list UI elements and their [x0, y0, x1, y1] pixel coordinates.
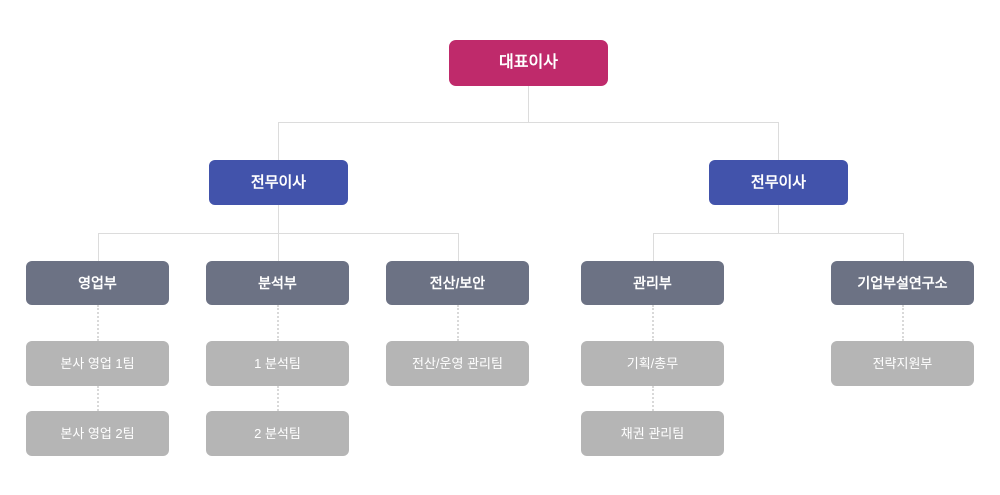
connector-management-to-planning	[652, 305, 654, 341]
connector-exec-right-to-management	[653, 233, 654, 261]
node-department-it-security[interactable]: 전산/보안	[386, 261, 529, 305]
connector-it-to-team	[457, 305, 459, 341]
node-executive-left[interactable]: 전무이사	[209, 160, 348, 205]
connector-ceo-to-exec-right	[778, 122, 779, 160]
connector-sales-to-team1	[97, 305, 99, 341]
connector-analysis-to-team1	[277, 305, 279, 341]
node-ceo[interactable]: 대표이사	[449, 40, 608, 86]
node-team-strategy-support[interactable]: 전략지원부	[831, 341, 974, 386]
node-team-analysis-1[interactable]: 1 분석팀	[206, 341, 349, 386]
node-executive-right[interactable]: 전무이사	[709, 160, 848, 205]
node-department-research[interactable]: 기업부설연구소	[831, 261, 974, 305]
connector-research-to-strategy	[902, 305, 904, 341]
node-department-analysis[interactable]: 분석부	[206, 261, 349, 305]
connector-exec-left-to-it	[458, 233, 459, 261]
node-team-analysis-2[interactable]: 2 분석팀	[206, 411, 349, 456]
node-team-sales-1[interactable]: 본사 영업 1팀	[26, 341, 169, 386]
connector-exec-right-bar	[653, 233, 903, 234]
connector-exec-left-stem	[278, 205, 279, 234]
connector-ceo-stem	[528, 86, 529, 123]
node-team-bond-management[interactable]: 채권 관리팀	[581, 411, 724, 456]
connector-ceo-to-exec-left	[278, 122, 279, 160]
connector-exec-right-to-research	[903, 233, 904, 261]
node-department-sales[interactable]: 영업부	[26, 261, 169, 305]
node-department-management[interactable]: 관리부	[581, 261, 724, 305]
connector-exec-left-to-analysis	[278, 233, 279, 261]
org-chart: 대표이사 전무이사 전무이사 영업부 분석부 전산/보안 관리부 기업부설연구소…	[0, 0, 1000, 495]
node-team-planning-general-affairs[interactable]: 기획/총무	[581, 341, 724, 386]
connector-exec-right-stem	[778, 205, 779, 234]
node-team-sales-2[interactable]: 본사 영업 2팀	[26, 411, 169, 456]
node-team-it-operations[interactable]: 전산/운영 관리팀	[386, 341, 529, 386]
connector-ceo-bar	[278, 122, 778, 123]
connector-exec-left-to-sales	[98, 233, 99, 261]
